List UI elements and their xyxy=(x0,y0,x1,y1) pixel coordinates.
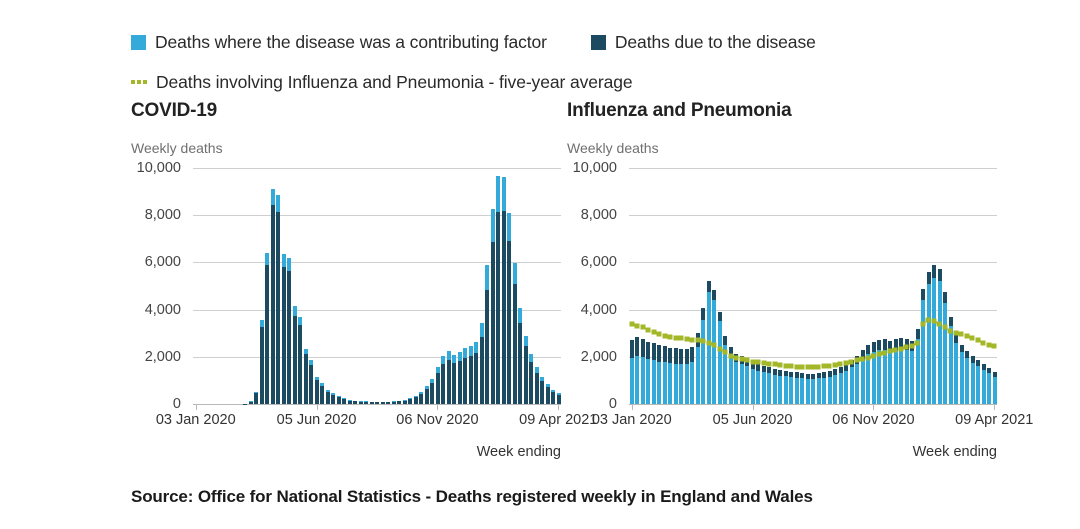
bar-segment xyxy=(690,362,694,404)
panel-covid19: COVID-19 Weekly deaths 02,0004,0006,0008… xyxy=(131,100,571,408)
bar-segment xyxy=(712,290,716,300)
y-tick-label: 0 xyxy=(173,396,181,412)
x-tick-label: 03 Jan 2020 xyxy=(156,412,236,428)
bar-segment xyxy=(452,355,456,363)
bar-segment xyxy=(458,361,462,404)
bar-segment xyxy=(905,339,909,350)
bar-segment xyxy=(811,379,815,404)
bar-segment xyxy=(938,281,942,404)
bar-series-influenza-pneumonia xyxy=(629,168,997,404)
bar-segment xyxy=(927,272,931,284)
bar-segment xyxy=(663,346,667,362)
panel-title-covid19: COVID-19 xyxy=(131,100,571,122)
bar-segment xyxy=(899,349,903,404)
bar-segment xyxy=(469,346,473,356)
bar-segment xyxy=(723,345,727,404)
bar-segment xyxy=(855,356,859,364)
x-tick-mark xyxy=(994,404,995,410)
bar-segment xyxy=(524,346,528,404)
x-axis-labels-influenza-pneumonia: 03 Jan 202005 Jun 202006 Nov 202009 Apr … xyxy=(567,412,997,434)
bar-segment xyxy=(938,269,942,281)
bar-segment xyxy=(707,281,711,292)
bar-column xyxy=(556,168,562,404)
y-axis-labels-influenza-pneumonia: 02,0004,0006,0008,00010,000 xyxy=(567,168,625,404)
bar-segment xyxy=(850,360,854,368)
bar-segment xyxy=(949,317,953,326)
bar-segment xyxy=(916,329,920,340)
bar-segment xyxy=(507,213,511,241)
bar-segment xyxy=(927,284,931,404)
bar-segment xyxy=(496,212,500,404)
bar-segment xyxy=(987,373,991,404)
bar-segment xyxy=(861,350,865,359)
bar-segment xyxy=(883,350,887,404)
bar-segment xyxy=(690,347,694,362)
bar-segment xyxy=(652,343,656,360)
bar-segment xyxy=(965,358,969,404)
bar-segment xyxy=(877,340,881,350)
bar-segment xyxy=(463,348,467,357)
x-tick-mark xyxy=(753,404,754,410)
x-axis-ticks-influenza-pneumonia xyxy=(629,404,997,411)
bar-segment xyxy=(414,397,418,404)
x-tick-mark xyxy=(437,404,438,410)
bar-segment xyxy=(287,258,291,271)
bar-segment xyxy=(265,265,269,404)
bar-segment xyxy=(452,363,456,404)
bar-segment xyxy=(513,284,517,404)
bar-segment xyxy=(696,333,700,347)
bar-segment xyxy=(921,289,925,300)
x-axis-caption-covid19: Week ending xyxy=(477,444,561,460)
x-tick-label: 05 Jun 2020 xyxy=(277,412,357,428)
legend-swatch-light-blue xyxy=(131,35,146,50)
bar-segment xyxy=(789,377,793,404)
bar-segment xyxy=(474,353,478,404)
bar-segment xyxy=(458,352,462,360)
bar-segment xyxy=(976,366,980,404)
bar-segment xyxy=(982,370,986,404)
bar-segment xyxy=(745,359,749,366)
bar-segment xyxy=(315,380,319,404)
bar-segment xyxy=(861,359,865,404)
bar-segment xyxy=(729,347,733,355)
bar-segment xyxy=(806,379,810,404)
bar-segment xyxy=(298,317,302,325)
bar-segment xyxy=(309,365,313,404)
bar-segment xyxy=(474,342,478,353)
y-tick-label: 8,000 xyxy=(145,207,181,223)
plot-area-covid19 xyxy=(193,168,561,404)
y-tick-label: 8,000 xyxy=(581,207,617,223)
bar-segment xyxy=(540,381,544,404)
bar-segment xyxy=(734,354,738,362)
y-tick-label: 10,000 xyxy=(573,160,617,176)
bar-segment xyxy=(888,351,892,404)
bar-segment xyxy=(877,350,881,404)
bar-segment xyxy=(337,397,341,404)
bar-segment xyxy=(480,323,484,338)
bar-segment xyxy=(866,354,870,404)
x-axis-labels-covid19: 03 Jan 202005 Jun 202006 Nov 202009 Apr … xyxy=(131,412,561,434)
bar-segment xyxy=(679,364,683,404)
bar-segment xyxy=(663,362,667,404)
bar-segment xyxy=(740,364,744,404)
bar-segment xyxy=(696,347,700,404)
x-tick-label: 09 Apr 2021 xyxy=(955,412,1033,428)
bar-segment xyxy=(718,321,722,404)
bar-segment xyxy=(718,312,722,321)
bar-segment xyxy=(866,345,870,354)
bar-segment xyxy=(850,367,854,404)
bar-segment xyxy=(734,362,738,404)
bar-segment xyxy=(447,360,451,404)
bar-segment xyxy=(855,364,859,404)
bar-segment xyxy=(447,351,451,359)
bar-segment xyxy=(518,323,522,404)
bar-column xyxy=(992,168,998,404)
bar-segment xyxy=(630,358,634,404)
bar-segment xyxy=(965,351,969,358)
bar-segment xyxy=(971,363,975,404)
legend-item-contributing-factor: Deaths where the disease was a contribut… xyxy=(131,32,547,53)
bar-segment xyxy=(943,303,947,404)
bar-segment xyxy=(513,263,517,284)
bar-segment xyxy=(954,334,958,342)
bar-segment xyxy=(817,378,821,404)
bar-segment xyxy=(784,376,788,404)
source-note: Source: Office for National Statistics -… xyxy=(131,487,813,507)
bar-segment xyxy=(839,373,843,404)
bar-segment xyxy=(326,392,330,404)
bar-segment xyxy=(265,253,269,265)
bar-segment xyxy=(469,356,473,404)
bar-segment xyxy=(828,377,832,404)
bar-segment xyxy=(535,373,539,404)
bar-segment xyxy=(674,348,678,364)
bar-segment xyxy=(707,292,711,404)
bar-segment xyxy=(883,339,887,350)
bar-segment xyxy=(872,342,876,352)
bar-segment xyxy=(762,372,766,404)
bar-segment xyxy=(833,375,837,404)
legend-label-contributing-factor: Deaths where the disease was a contribut… xyxy=(155,32,547,53)
bar-segment xyxy=(745,366,749,404)
bar-segment xyxy=(502,211,506,404)
bar-segment xyxy=(282,254,286,267)
legend-swatch-dark-navy xyxy=(591,35,606,50)
bar-series-covid19 xyxy=(193,168,561,404)
bar-segment xyxy=(751,362,755,369)
bar-segment xyxy=(910,351,914,404)
bar-segment xyxy=(844,371,848,405)
bar-segment xyxy=(910,341,914,351)
bar-segment xyxy=(436,373,440,404)
bar-segment xyxy=(932,265,936,277)
bar-segment xyxy=(685,349,689,364)
legend-label-five-year-average: Deaths involving Influenza and Pneumonia… xyxy=(156,72,633,93)
legend-item-deaths-due-to-disease: Deaths due to the disease xyxy=(591,32,816,53)
chart-legend: Deaths where the disease was a contribut… xyxy=(131,26,1031,98)
bar-segment xyxy=(701,320,705,404)
bar-segment xyxy=(491,209,495,242)
bar-segment xyxy=(740,356,744,364)
bar-segment xyxy=(524,336,528,346)
bar-segment xyxy=(888,341,892,351)
bar-segment xyxy=(960,345,964,353)
bar-segment xyxy=(943,292,947,303)
y-tick-label: 0 xyxy=(609,396,617,412)
bar-segment xyxy=(304,354,308,404)
bar-segment xyxy=(778,376,782,404)
bar-segment xyxy=(872,352,876,404)
bar-segment xyxy=(630,340,634,358)
bar-segment xyxy=(767,373,771,404)
panel-subtitle-covid19: Weekly deaths xyxy=(131,140,571,156)
x-axis-caption-influenza-pneumonia: Week ending xyxy=(913,444,997,460)
y-tick-label: 6,000 xyxy=(145,254,181,270)
bar-segment xyxy=(641,339,645,357)
bar-segment xyxy=(529,362,533,404)
bar-segment xyxy=(502,177,506,211)
bar-segment xyxy=(723,336,727,345)
legend-item-five-year-average: Deaths involving Influenza and Pneumonia… xyxy=(131,72,633,93)
bar-segment xyxy=(652,360,656,404)
x-tick-label: 03 Jan 2020 xyxy=(592,412,672,428)
bar-segment xyxy=(320,386,324,404)
dotted-line-icon xyxy=(131,75,149,90)
y-tick-label: 2,000 xyxy=(145,349,181,365)
bar-segment xyxy=(894,339,898,350)
bar-segment xyxy=(557,395,561,404)
bar-segment xyxy=(756,371,760,405)
y-tick-label: 4,000 xyxy=(145,302,181,318)
bar-segment xyxy=(485,290,489,404)
panel-subtitle-influenza-pneumonia: Weekly deaths xyxy=(567,140,1007,156)
bar-segment xyxy=(668,363,672,404)
y-tick-label: 10,000 xyxy=(137,160,181,176)
bar-segment xyxy=(800,378,804,404)
bar-segment xyxy=(905,350,909,404)
legend-row-secondary: Deaths involving Influenza and Pneumonia… xyxy=(131,66,1031,98)
x-tick-mark xyxy=(873,404,874,410)
bar-segment xyxy=(331,395,335,404)
bar-segment xyxy=(712,300,716,404)
bar-segment xyxy=(657,362,661,404)
bar-segment xyxy=(894,350,898,404)
panel-influenza-pneumonia: Influenza and Pneumonia Weekly deaths 02… xyxy=(567,100,1007,408)
bar-segment xyxy=(298,325,302,404)
plot-covid19: 02,0004,0006,0008,00010,000 03 Jan 20200… xyxy=(131,168,561,408)
bar-segment xyxy=(441,356,445,364)
bar-segment xyxy=(419,394,423,404)
bar-segment xyxy=(441,364,445,404)
bar-segment xyxy=(773,375,777,405)
bar-segment xyxy=(260,320,264,327)
bar-segment xyxy=(271,189,275,205)
bar-segment xyxy=(551,392,555,404)
bar-segment xyxy=(646,359,650,404)
bar-segment xyxy=(954,343,958,404)
bar-segment xyxy=(480,337,484,404)
bar-segment xyxy=(844,364,848,371)
panel-title-influenza-pneumonia: Influenza and Pneumonia xyxy=(567,100,1007,122)
bar-segment xyxy=(507,241,511,404)
x-tick-label: 06 Nov 2020 xyxy=(396,412,478,428)
x-axis-ticks-covid19 xyxy=(193,404,561,411)
x-tick-mark xyxy=(632,404,633,410)
y-tick-label: 6,000 xyxy=(581,254,617,270)
bar-segment xyxy=(932,278,936,404)
bar-segment xyxy=(971,356,975,363)
bar-segment xyxy=(430,383,434,404)
bar-segment xyxy=(921,300,925,404)
bar-segment xyxy=(485,265,489,290)
y-axis-labels-covid19: 02,0004,0006,0008,00010,000 xyxy=(131,168,189,404)
bar-segment xyxy=(254,393,258,404)
bar-segment xyxy=(276,212,280,404)
bar-segment xyxy=(293,306,297,315)
bar-segment xyxy=(899,338,903,349)
bar-segment xyxy=(795,378,799,404)
bar-segment xyxy=(668,348,672,364)
bar-segment xyxy=(729,356,733,404)
bar-segment xyxy=(993,377,997,404)
bar-segment xyxy=(646,342,650,359)
bar-segment xyxy=(635,356,639,404)
bar-segment xyxy=(529,354,533,362)
bar-segment xyxy=(679,349,683,364)
bar-segment xyxy=(293,316,297,405)
x-tick-mark xyxy=(196,404,197,410)
bar-segment xyxy=(657,345,661,362)
bar-segment xyxy=(518,308,522,323)
bar-segment xyxy=(287,271,291,404)
bar-segment xyxy=(916,339,920,404)
legend-row-primary: Deaths where the disease was a contribut… xyxy=(131,26,1031,58)
legend-label-deaths-due-to-disease: Deaths due to the disease xyxy=(615,32,816,53)
bar-segment xyxy=(260,327,264,404)
bar-segment xyxy=(546,387,550,404)
plot-area-influenza-pneumonia xyxy=(629,168,997,404)
bar-segment xyxy=(751,369,755,404)
x-tick-mark xyxy=(317,404,318,410)
bar-segment xyxy=(641,357,645,404)
x-tick-mark xyxy=(558,404,559,410)
bar-segment xyxy=(960,352,964,404)
bar-segment xyxy=(756,364,760,371)
bar-segment xyxy=(276,195,280,212)
x-tick-label: 05 Jun 2020 xyxy=(713,412,793,428)
bar-segment xyxy=(282,267,286,404)
chart-page: Deaths where the disease was a contribut… xyxy=(0,0,1080,529)
bar-segment xyxy=(949,326,953,404)
y-tick-label: 2,000 xyxy=(581,349,617,365)
bar-segment xyxy=(685,364,689,404)
x-tick-label: 06 Nov 2020 xyxy=(832,412,914,428)
bar-segment xyxy=(463,358,467,404)
bar-segment xyxy=(425,389,429,404)
y-tick-label: 4,000 xyxy=(581,302,617,318)
bar-segment xyxy=(635,337,639,356)
bar-segment xyxy=(701,308,705,320)
bar-segment xyxy=(674,364,678,404)
bar-segment xyxy=(491,242,495,404)
bar-segment xyxy=(496,176,500,211)
bar-segment xyxy=(822,378,826,404)
plot-influenza-pneumonia: 02,0004,0006,0008,00010,000 03 Jan 20200… xyxy=(567,168,997,408)
bar-segment xyxy=(271,205,275,404)
